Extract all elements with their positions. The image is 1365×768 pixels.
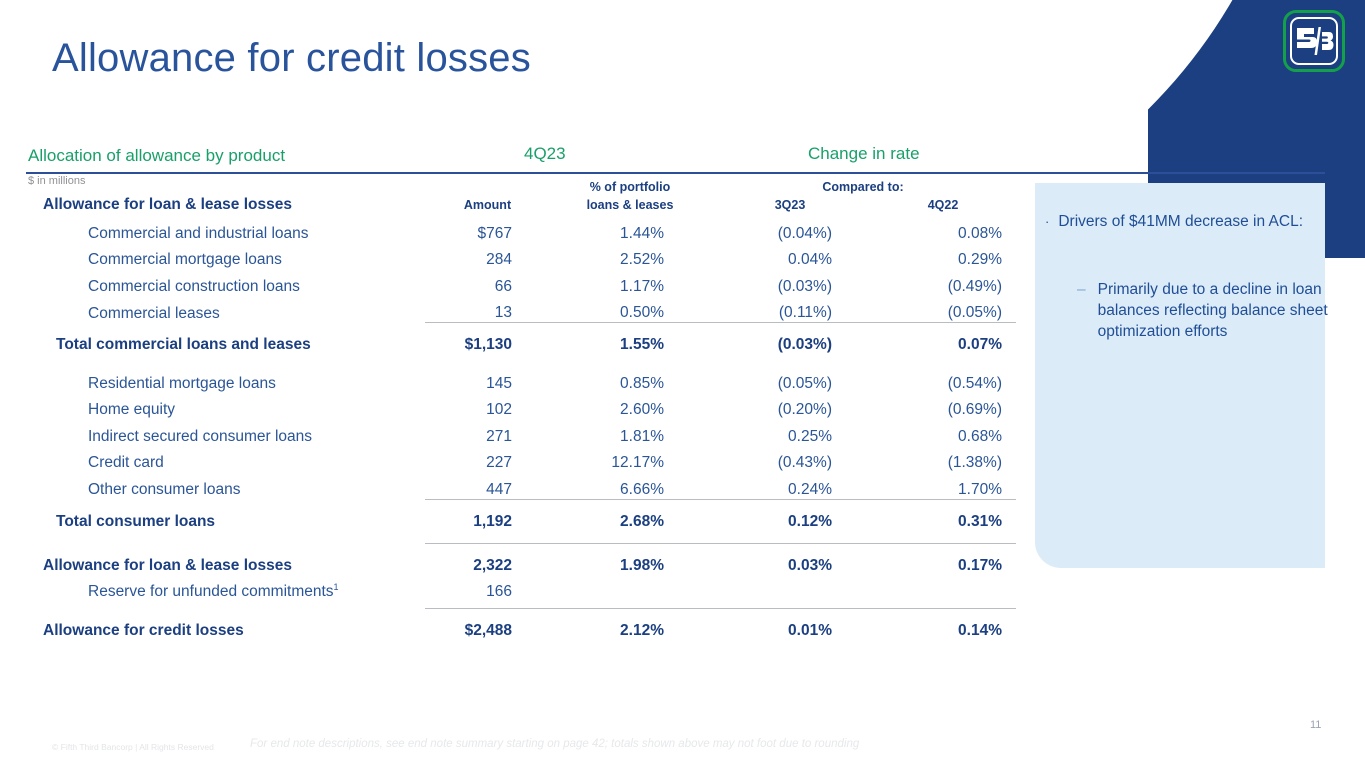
header-change-in-rate: Change in rate [808,144,920,164]
row-label: Commercial and industrial loans [26,216,425,243]
table-total-row-allowance: Allowance for loan & lease losses 2,322 … [26,543,1016,575]
row-q4: 0.08% [870,216,1016,243]
row-amount: $767 [425,216,550,243]
row-label: Home equity [26,393,425,420]
row-label: Commercial leases [26,296,425,323]
row-q3: (0.03%) [710,323,870,355]
row-q4: (0.05%) [870,296,1016,323]
header-period-4q23: 4Q23 [524,144,566,164]
row-pct: 2.60% [550,393,710,420]
header-divider-rule [26,172,1325,174]
row-label: Indirect secured consumer loans [26,419,425,446]
row-label: Allowance for loan & lease losses [26,543,425,575]
row-q3: (0.05%) [710,366,870,393]
row-amount: 271 [425,419,550,446]
row-q4: 0.14% [870,609,1016,641]
header-allocation-by-product: Allocation of allowance by product [28,146,285,166]
page-number: 11 [1310,719,1321,731]
table-row: Residential mortgage loans 145 0.85% (0.… [26,366,1016,393]
row-pct: 1.81% [550,419,710,446]
row-q4 [870,575,1016,602]
row-q3 [710,575,870,602]
page-title: Allowance for credit losses [52,36,531,81]
row-q4: (0.54%) [870,366,1016,393]
row-label-text: Reserve for unfunded commitments [88,583,334,600]
table-header-row-top: % of portfolio Compared to: [26,180,1016,196]
row-q4: 1.70% [870,472,1016,499]
bullet-dot-icon: · [1045,211,1049,232]
row-q3: (0.11%) [710,296,870,323]
row-q3: (0.04%) [710,216,870,243]
table-spacer-row [26,531,1016,544]
table-row-unfunded: Reserve for unfunded commitments1 166 [26,575,1016,602]
row-q4: (0.49%) [870,269,1016,296]
row-amount: $1,130 [425,323,550,355]
row-label: Other consumer loans [26,472,425,499]
row-q4: 0.17% [870,543,1016,575]
row-amount: 2,322 [425,543,550,575]
row-pct: 12.17% [550,446,710,473]
col-head-pct-portfolio-line2: loans & leases [550,196,710,216]
callout-bullet-sub-text: Primarily due to a decline in loan balan… [1098,279,1339,342]
row-q3: 0.04% [710,243,870,270]
row-pct: 1.17% [550,269,710,296]
allowance-table-container: % of portfolio Compared to: Allowance fo… [26,180,1016,640]
row-pct: 1.98% [550,543,710,575]
table-row: Credit card 227 12.17% (0.43%) (1.38%) [26,446,1016,473]
col-head-3q23: 3Q23 [710,196,870,216]
col-head-pct-portfolio-line1: % of portfolio [550,180,710,196]
row-q4: 0.31% [870,499,1016,531]
table-subtotal-row-commercial: Total commercial loans and leases $1,130… [26,323,1016,355]
row-amount: 13 [425,296,550,323]
row-label: Commercial mortgage loans [26,243,425,270]
footer-endnote: For end note descriptions, see end note … [250,738,859,750]
row-amount: 102 [425,393,550,420]
row-pct: 2.68% [550,499,710,531]
row-amount: 227 [425,446,550,473]
table-row: Commercial construction loans 66 1.17% (… [26,269,1016,296]
table-row: Commercial and industrial loans $767 1.4… [26,216,1016,243]
callout-bullet-sub: – Primarily due to a decline in loan bal… [1077,279,1339,342]
bullet-dash-icon: – [1077,279,1086,342]
callout-bullet-primary-text: Drivers of $41MM decrease in ACL: [1058,211,1303,232]
row-pct: 6.66% [550,472,710,499]
row-q3: 0.24% [710,472,870,499]
row-q4: (1.38%) [870,446,1016,473]
callout-bullet-primary: · Drivers of $41MM decrease in ACL: [1045,211,1315,232]
row-q4: 0.68% [870,419,1016,446]
row-amount: 284 [425,243,550,270]
table-section-title: Allowance for loan & lease losses [26,196,425,216]
row-pct: 1.44% [550,216,710,243]
table-header-row-bottom: Allowance for loan & lease losses Amount… [26,196,1016,216]
footnote-marker: 1 [334,582,339,592]
row-amount: $2,488 [425,609,550,641]
row-pct: 2.52% [550,243,710,270]
allowance-table: % of portfolio Compared to: Allowance fo… [26,180,1016,640]
col-head-4q22: 4Q22 [870,196,1016,216]
row-pct: 0.50% [550,296,710,323]
row-q3: (0.20%) [710,393,870,420]
col-head-compared-to: Compared to: [710,180,1016,196]
row-q3: (0.43%) [710,446,870,473]
row-q4: 0.07% [870,323,1016,355]
col-head-amount: Amount [425,196,550,216]
row-label: Total commercial loans and leases [26,323,425,355]
row-q3: 0.01% [710,609,870,641]
table-row: Home equity 102 2.60% (0.20%) (0.69%) [26,393,1016,420]
row-q3: 0.12% [710,499,870,531]
fifth-third-logo [1283,10,1345,72]
row-amount: 145 [425,366,550,393]
table-row: Other consumer loans 447 6.66% 0.24% 1.7… [26,472,1016,499]
row-q3: 0.03% [710,543,870,575]
drivers-callout-box: · Drivers of $41MM decrease in ACL: – Pr… [1035,183,1325,568]
row-label: Commercial construction loans [26,269,425,296]
row-amount: 1,192 [425,499,550,531]
table-row: Commercial leases 13 0.50% (0.11%) (0.05… [26,296,1016,323]
row-amount: 166 [425,575,550,602]
row-label: Credit card [26,446,425,473]
row-q3: 0.25% [710,419,870,446]
row-pct: 0.85% [550,366,710,393]
row-pct: 1.55% [550,323,710,355]
row-label: Allowance for credit losses [26,609,425,641]
row-q3: (0.03%) [710,269,870,296]
row-pct: 2.12% [550,609,710,641]
row-label: Reserve for unfunded commitments1 [26,575,425,602]
row-amount: 447 [425,472,550,499]
table-spacer-row [26,354,1016,366]
table-row: Indirect secured consumer loans 271 1.81… [26,419,1016,446]
row-pct [550,575,710,602]
fifth-third-logo-mark [1290,17,1338,65]
table-spacer-row [26,601,1016,609]
row-label: Total consumer loans [26,499,425,531]
row-amount: 66 [425,269,550,296]
table-row: Commercial mortgage loans 284 2.52% 0.04… [26,243,1016,270]
table-subtotal-row-consumer: Total consumer loans 1,192 2.68% 0.12% 0… [26,499,1016,531]
table-grand-total-row: Allowance for credit losses $2,488 2.12%… [26,609,1016,641]
row-label: Residential mortgage loans [26,366,425,393]
footer-copyright: © Fifth Third Bancorp | All Rights Reser… [52,742,214,752]
row-q4: 0.29% [870,243,1016,270]
row-q4: (0.69%) [870,393,1016,420]
